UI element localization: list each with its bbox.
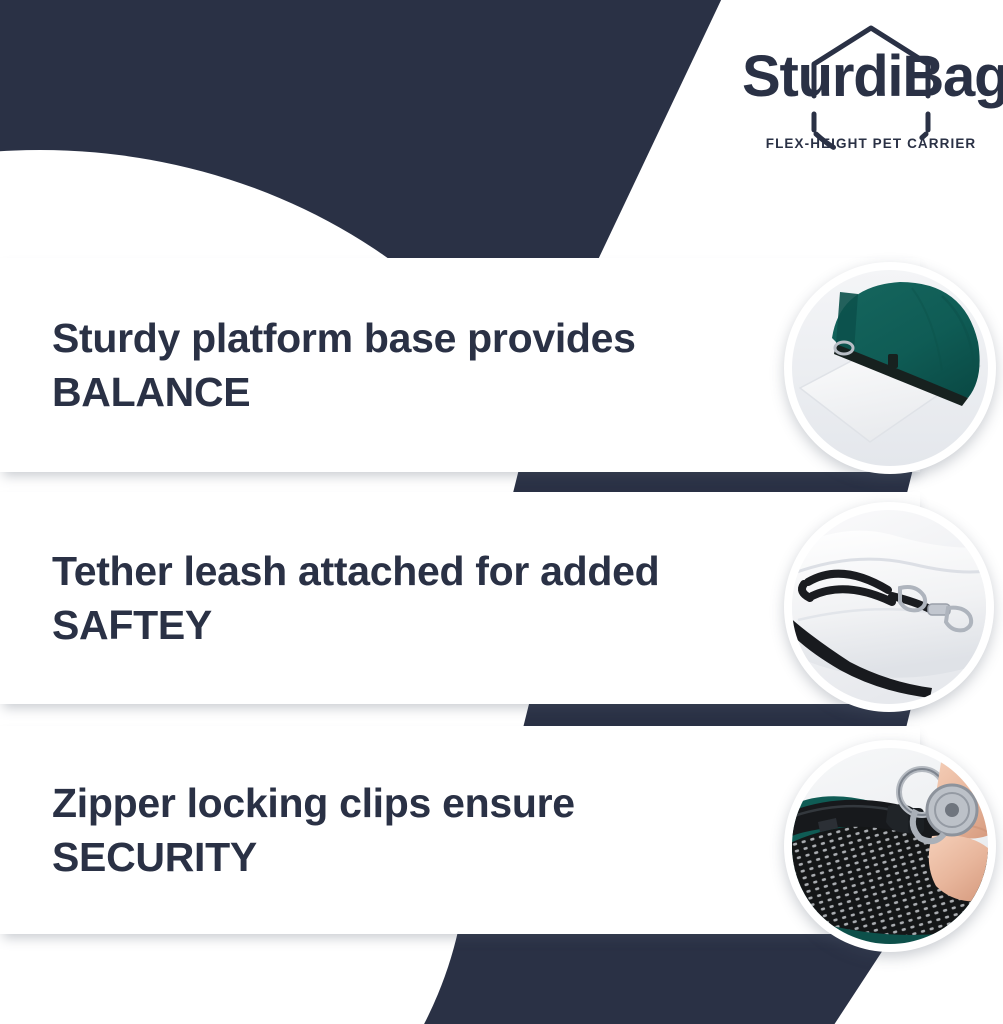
- photo-tether-leash: [792, 510, 986, 704]
- brand-tagline: FLEX-HEIGHT PET CARRIER: [742, 136, 1000, 151]
- feature-card-saftey: Tether leash attached for added SAFTEY: [0, 492, 920, 704]
- feature-line1-balance: Sturdy platform base provides: [52, 315, 636, 361]
- brand-wordmark: SturdiBag: [742, 48, 1000, 106]
- feature-line1-saftey: Tether leash attached for added: [52, 548, 659, 594]
- feature-text-balance: Sturdy platform base provides BALANCE: [52, 311, 636, 419]
- feature-text-security: Zipper locking clips ensure SECURITY: [52, 776, 575, 884]
- feature-line2-saftey: SAFTEY: [52, 602, 212, 648]
- brand-logo: SturdiBag FLEX-HEIGHT PET CARRIER: [742, 18, 1000, 166]
- photo-zipper-locking-clip: [792, 748, 988, 944]
- photo-green-carrier-platform-base: [792, 270, 988, 466]
- feature-line1-security: Zipper locking clips ensure: [52, 780, 575, 826]
- feature-line2-balance: BALANCE: [52, 369, 250, 415]
- product-feature-poster: Sturdy platform base provides BALANCE Te…: [0, 0, 1003, 1024]
- feature-line2-security: SECURITY: [52, 834, 257, 880]
- feature-card-balance: Sturdy platform base provides BALANCE: [0, 258, 920, 472]
- navy-divider-strip-1: [513, 469, 913, 493]
- feature-text-saftey: Tether leash attached for added SAFTEY: [52, 544, 659, 652]
- feature-card-security: Zipper locking clips ensure SECURITY: [0, 726, 920, 934]
